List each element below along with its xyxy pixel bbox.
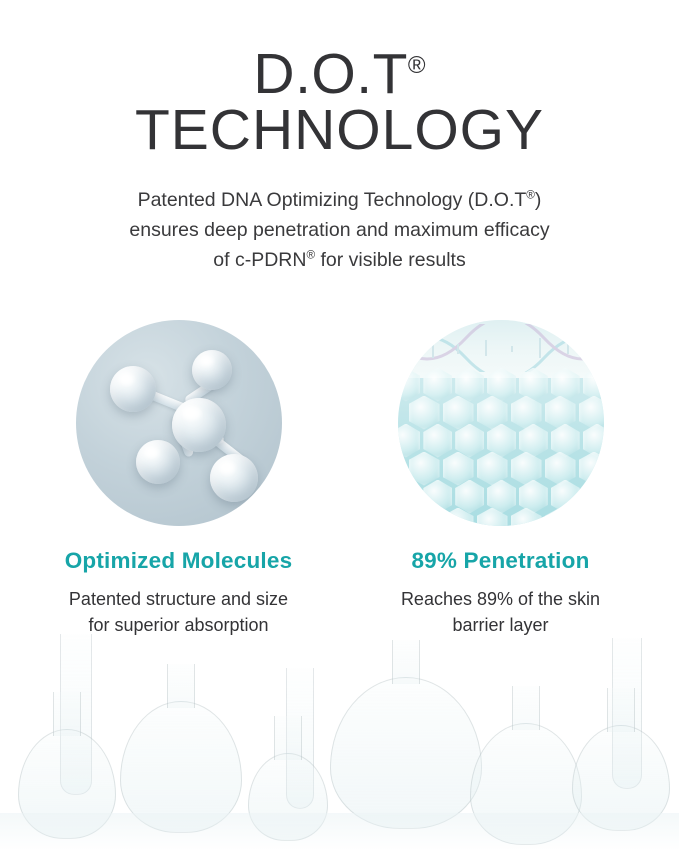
test-tube-icon xyxy=(286,668,314,809)
subtitle-line-3b: for visible results xyxy=(315,249,466,271)
feature-optimized-molecules: Optimized Molecules Patented structure a… xyxy=(29,320,329,639)
atom-icon xyxy=(210,454,258,502)
feature-description: Patented structure and size for superior… xyxy=(59,586,299,639)
test-tube-icon xyxy=(612,638,642,789)
atom-icon xyxy=(192,350,232,390)
flask-icon xyxy=(18,729,116,839)
atom-icon xyxy=(136,440,180,484)
subtitle-part-1: Patented DNA Optimizing Technology (D.O.… xyxy=(138,189,527,211)
dna-helix-icon xyxy=(398,324,604,372)
feature-list: Optimized Molecules Patented structure a… xyxy=(0,320,679,639)
registered-mark-icon: ® xyxy=(306,249,315,262)
flask-icon xyxy=(248,753,328,841)
honeycomb-grid xyxy=(398,368,604,526)
feature-penetration: 89% Penetration Reaches 89% of the skin … xyxy=(351,320,651,639)
registered-mark-icon: ® xyxy=(526,188,535,201)
page-title: D.O.T® TECHNOLOGY xyxy=(0,0,679,159)
flask-icon xyxy=(572,725,670,831)
skin-barrier-illustration xyxy=(398,320,604,526)
flask-icon xyxy=(330,677,482,829)
page-title-line2: TECHNOLOGY xyxy=(0,102,679,158)
subtitle-line-2: ensures deep penetration and maximum eff… xyxy=(129,219,549,241)
subtitle-part-2: ) xyxy=(535,189,542,211)
flask-icon xyxy=(120,701,242,833)
flask-icon xyxy=(470,723,582,845)
feature-title: Optimized Molecules xyxy=(29,548,329,574)
bench-surface xyxy=(0,813,679,849)
feature-description: Reaches 89% of the skin barrier layer xyxy=(381,586,621,639)
atom-icon xyxy=(110,366,156,412)
page-title-line1: D.O.T xyxy=(253,42,408,106)
molecule-illustration xyxy=(76,320,282,526)
atom-icon xyxy=(172,398,226,452)
registered-mark-icon: ® xyxy=(408,52,426,79)
feature-title: 89% Penetration xyxy=(351,548,651,574)
page-subtitle: Patented DNA Optimizing Technology (D.O.… xyxy=(60,185,620,276)
test-tube-icon xyxy=(60,634,92,795)
subtitle-line-3a: of c-PDRN xyxy=(213,249,306,271)
